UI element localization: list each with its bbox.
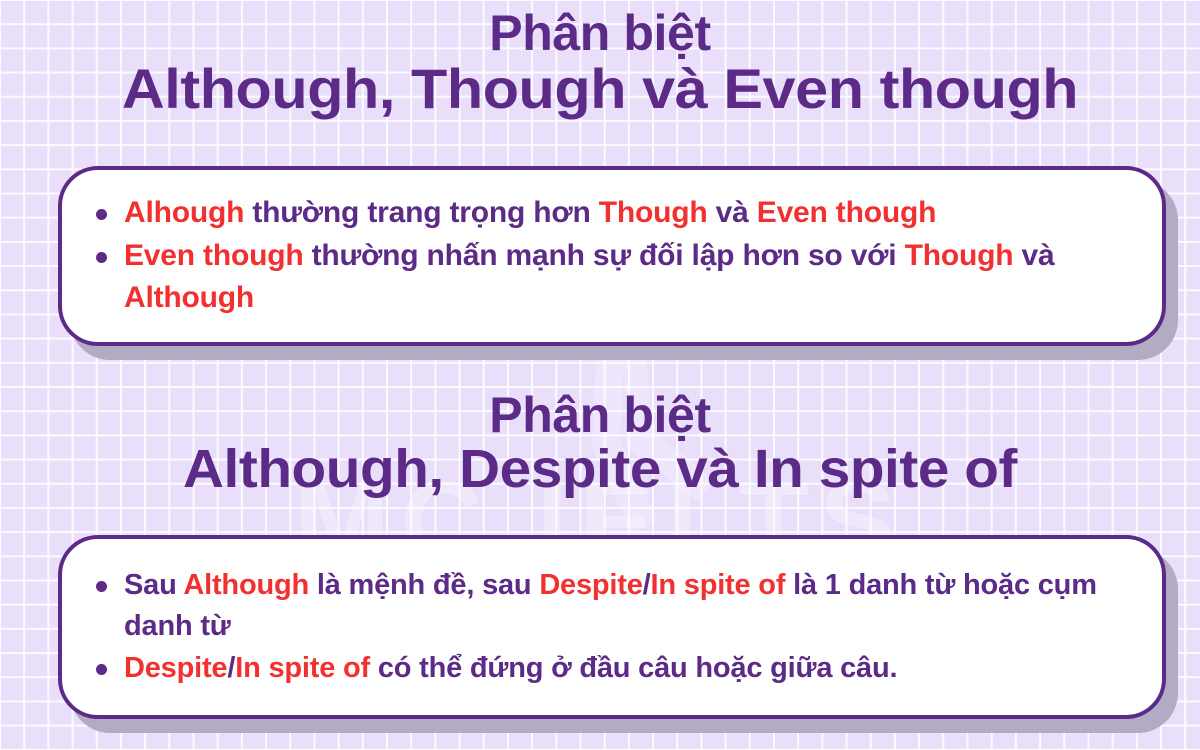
text-run-highlight: In spite of: [651, 569, 786, 601]
list-item: Despite/In spite of có thể đứng ở đầu câ…: [84, 648, 1136, 689]
section-1-card: Alhough thường trang trọng hơn Though và…: [58, 166, 1166, 346]
section-2-card-wrapper: Sau Although là mệnh đề, sau Despite/In …: [58, 535, 1166, 719]
text-run-highlight: Despite: [124, 652, 227, 684]
text-run-highlight: Although: [124, 281, 254, 314]
text-run-highlight: Despite: [539, 569, 642, 601]
text-run-highlight: Although: [183, 569, 309, 601]
text-run-normal: và: [708, 196, 757, 229]
section-1-heading: Phân biệt Although, Though và Even thoug…: [0, 8, 1200, 117]
section-2-heading-line-1: Phân biệt: [0, 390, 1200, 442]
section-1-bullet-list: Alhough thường trang trọng hơn Though và…: [84, 192, 1136, 320]
text-run-normal: có thể đứng ở đầu câu hoặc giữa câu.: [370, 652, 897, 684]
text-run-separator: /: [643, 569, 651, 601]
section-1-heading-line-1: Phân biệt: [0, 8, 1200, 60]
text-run-highlight: Though: [599, 196, 708, 229]
text-run-highlight: Alhough: [124, 196, 244, 229]
text-run-normal: thường nhấn mạnh sự đối lập hơn so với: [303, 239, 904, 272]
section-1-card-wrapper: Alhough thường trang trọng hơn Though và…: [58, 166, 1166, 346]
text-run-normal: là mệnh đề, sau: [309, 569, 539, 601]
text-run-highlight: Even though: [757, 196, 936, 229]
list-item: Sau Although là mệnh đề, sau Despite/In …: [84, 565, 1136, 647]
text-run-normal: và: [1013, 239, 1054, 272]
list-item: Even though thường nhấn mạnh sự đối lập …: [84, 235, 1136, 320]
section-2-heading-line-2: Although, Despite và In spite of: [0, 442, 1200, 498]
text-run-highlight: In spite of: [235, 652, 370, 684]
text-run-highlight: Though: [905, 239, 1014, 272]
text-run-normal: thường trang trọng hơn: [244, 196, 599, 229]
list-item: Alhough thường trang trọng hơn Though và…: [84, 192, 1136, 235]
section-1-heading-line-2: Although, Though và Even though: [0, 60, 1200, 118]
section-2-bullet-list: Sau Although là mệnh đề, sau Despite/In …: [84, 565, 1136, 689]
text-run-highlight: Even though: [124, 239, 303, 272]
section-2-card: Sau Although là mệnh đề, sau Despite/In …: [58, 535, 1166, 719]
section-2-heading: Phân biệt Although, Despite và In spite …: [0, 390, 1200, 497]
text-run-normal: Sau: [124, 569, 183, 601]
